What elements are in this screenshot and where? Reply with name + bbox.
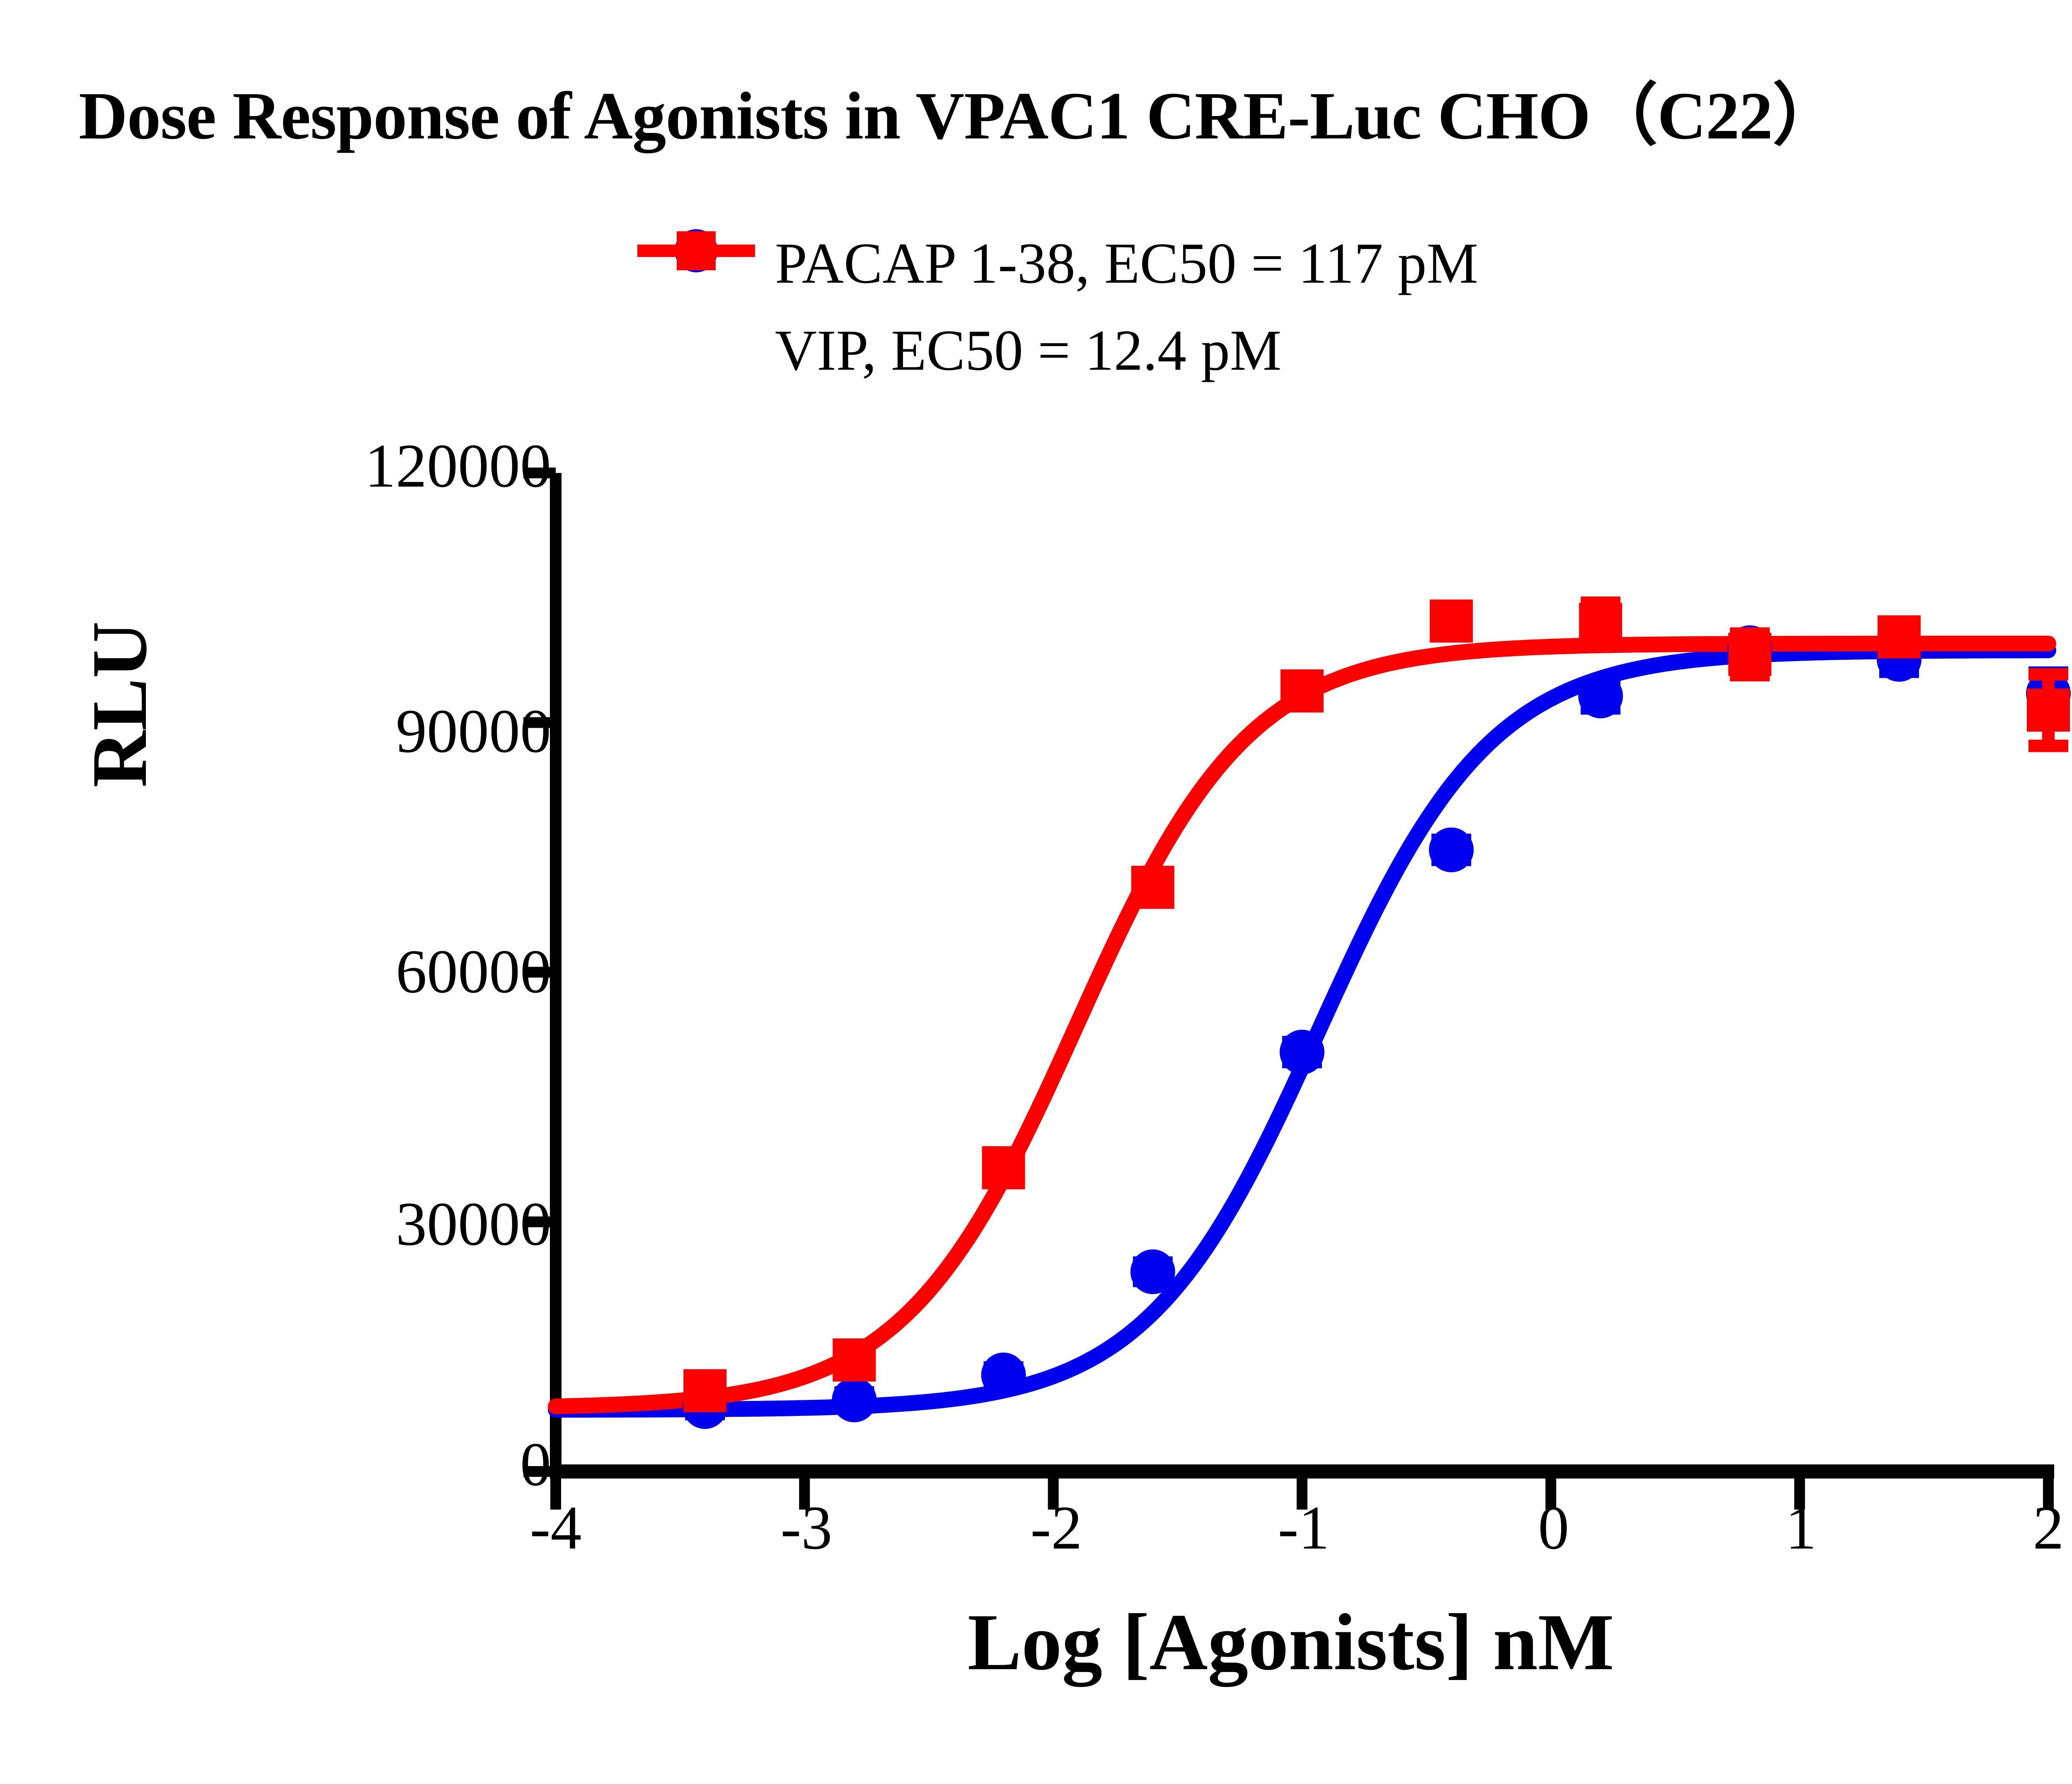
data-point-marker[interactable] (1130, 1249, 1175, 1294)
data-point-marker[interactable] (982, 1146, 1025, 1189)
data-point-marker[interactable] (1579, 603, 1622, 646)
data-point-marker[interactable] (1131, 866, 1174, 909)
data-point-marker[interactable] (1578, 674, 1623, 718)
data-point-marker[interactable] (1430, 599, 1473, 642)
series-vip (683, 599, 2070, 1412)
data-point-marker[interactable] (981, 1353, 1026, 1397)
data-point-marker[interactable] (833, 1338, 876, 1382)
data-point-marker[interactable] (2027, 688, 2070, 732)
data-point-marker[interactable] (1280, 669, 1324, 713)
plot-canvas (0, 0, 2072, 1784)
data-point-marker[interactable] (1878, 615, 1921, 658)
data-point-marker[interactable] (1728, 633, 1772, 676)
data-point-marker[interactable] (832, 1377, 876, 1422)
data-point-marker[interactable] (1429, 827, 1474, 872)
data-point-marker[interactable] (683, 1369, 726, 1412)
fit-curve-vip (556, 644, 2048, 1406)
series-pacap-1-38 (683, 625, 2071, 1429)
data-point-marker[interactable] (1280, 1030, 1324, 1074)
chart-page: Dose Response of Agonists in VPAC1 CRE-L… (0, 0, 2072, 1784)
